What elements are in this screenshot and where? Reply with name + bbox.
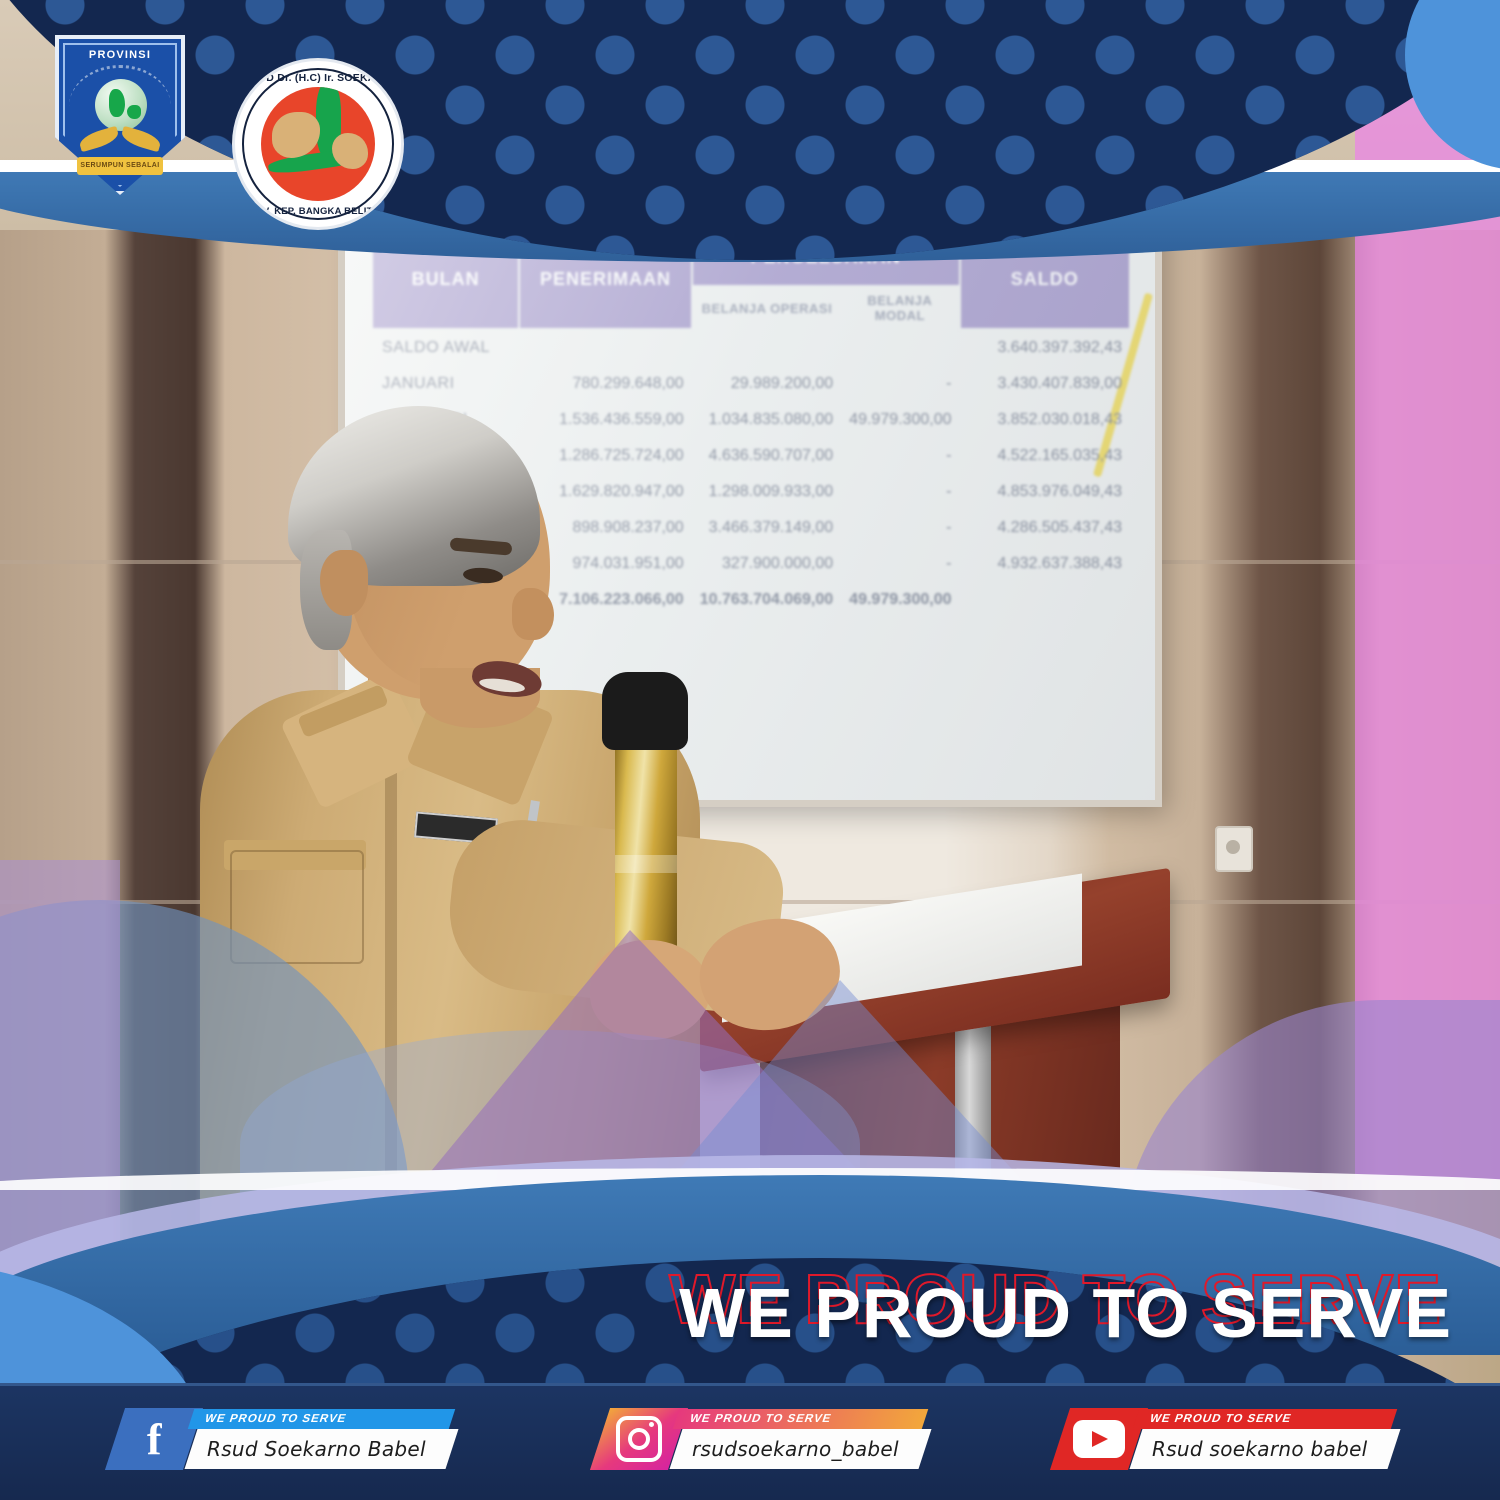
youtube-handle-plate: Rsud soekarno babel xyxy=(1130,1429,1401,1469)
hospital-logo: • RSUD Dr. (H.C) Ir. SOEKARNO • PROV. KE… xyxy=(232,58,404,230)
table-row: SALDO AWAL3.640.397.392,43 xyxy=(372,329,1130,366)
poster-canvas: LAPORAN KEUANGAN BLUD s.d Juni 2021 BULA… xyxy=(0,0,1500,1500)
motto-text: SERUMPUN SEBALAI xyxy=(77,157,163,175)
facebook-handle-plate: Rsud Soekarno Babel xyxy=(185,1429,459,1469)
ear xyxy=(320,550,368,616)
instagram-handle-plate: rsudsoekarno_babel xyxy=(670,1429,932,1469)
youtube-text-block: WE PROUD TO SERVE Rsud soekarno babel xyxy=(1136,1409,1394,1469)
facebook-tagline: WE PROUD TO SERVE xyxy=(188,1409,455,1429)
social-youtube[interactable]: WE PROUD TO SERVE Rsud soekarno babel xyxy=(1060,1408,1394,1470)
slide-yellow-arrow xyxy=(1093,293,1153,478)
province-label: PROVINSI xyxy=(55,49,185,61)
table-row: JANUARI780.299.648,0029.989.200,00-3.430… xyxy=(372,366,1130,402)
facebook-text-block: WE PROUD TO SERVE Rsud Soekarno Babel xyxy=(191,1409,452,1469)
instagram-text-block: WE PROUD TO SERVE rsudsoekarno_babel xyxy=(676,1409,925,1469)
slogan-text: WE PROUD TO SERVE xyxy=(679,1278,1452,1348)
th-belanja-modal: BELANJA MODAL xyxy=(841,286,959,329)
bangka-island-shape xyxy=(272,112,320,158)
province-emblem: PROVINSI SERUMPUN SEBALAI xyxy=(55,35,185,195)
microphone-band xyxy=(615,855,677,873)
header-navy-curve xyxy=(0,0,1500,260)
youtube-handle: Rsud soekarno babel xyxy=(1152,1437,1368,1461)
footer-top-edge xyxy=(0,1383,1500,1386)
microphone-windscreen xyxy=(602,672,688,750)
hospital-logo-bottom-text: PROV. KEP. BANGKA BELITUNG xyxy=(235,206,401,217)
header-dot-pattern xyxy=(0,0,1500,260)
island-map-disc xyxy=(261,87,375,201)
motto-ribbon: SERUMPUN SEBALAI xyxy=(77,157,163,175)
social-instagram[interactable]: WE PROUD TO SERVE rsudsoekarno_babel xyxy=(600,1408,925,1470)
youtube-tagline: WE PROUD TO SERVE xyxy=(1133,1409,1397,1429)
instagram-handle: rsudsoekarno_babel xyxy=(692,1437,899,1461)
social-facebook[interactable]: f WE PROUD TO SERVE Rsud Soekarno Babel xyxy=(115,1408,452,1470)
table-subheader-row: BELANJA OPERASI BELANJA MODAL xyxy=(372,286,1130,329)
th-belanja-operasi: BELANJA OPERASI xyxy=(692,286,841,329)
facebook-handle: Rsud Soekarno Babel xyxy=(207,1437,426,1461)
wall-power-socket xyxy=(1215,826,1253,872)
instagram-tagline: WE PROUD TO SERVE xyxy=(673,1409,928,1429)
globe-icon xyxy=(95,79,147,131)
nose xyxy=(512,588,554,640)
